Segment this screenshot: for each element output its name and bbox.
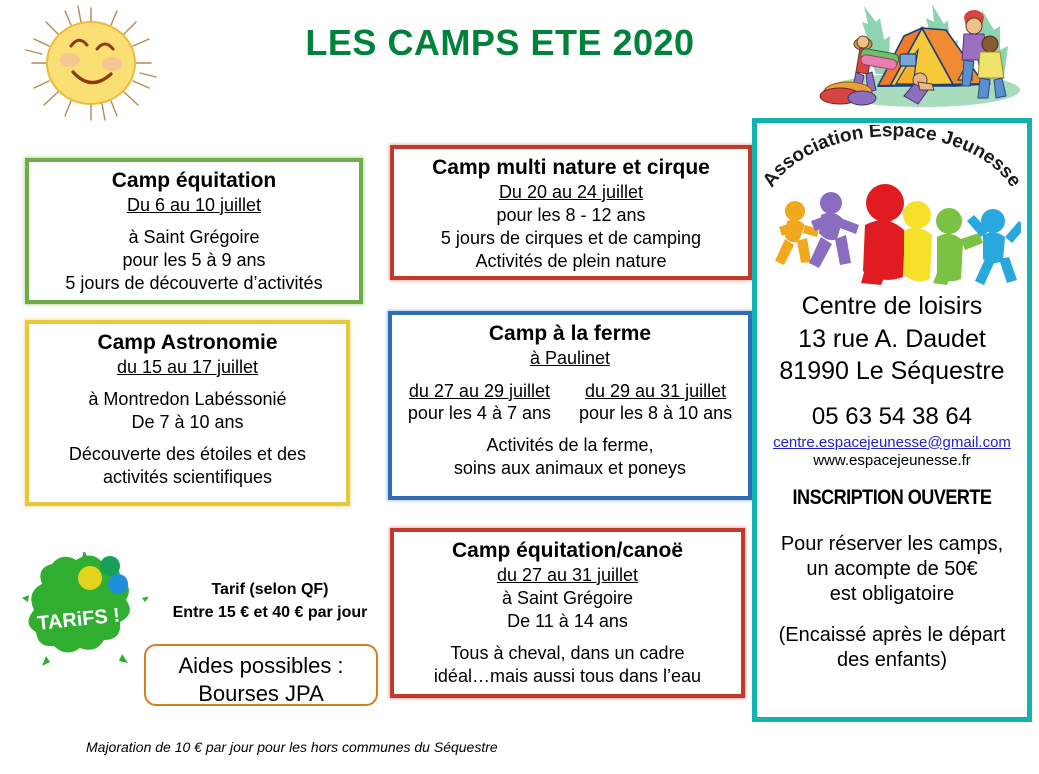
camp-description-line2: activités scientifiques — [37, 466, 338, 489]
running-children-logo — [765, 181, 1021, 285]
email-link[interactable]: centre.espacejeunesse@gmail.com — [757, 434, 1027, 451]
reservation-line-1: Pour réserver les camps, — [757, 532, 1027, 557]
farm-sessions: du 27 au 29 juillet pour les 4 à 7 ans d… — [400, 380, 740, 425]
camp-card-equitation-canoe: Camp équitation/canoë du 27 au 31 juille… — [390, 528, 745, 698]
camping-tent-illustration — [818, 0, 1030, 112]
address-line-1: Centre de loisirs — [757, 291, 1027, 322]
camp-ages: De 7 à 10 ans — [37, 411, 338, 434]
spacer — [400, 425, 740, 434]
association-info-panel: Association Espace Jeunesse — [752, 118, 1032, 722]
camp-dates: Du 20 au 24 juillet — [402, 181, 740, 204]
aides-box: Aides possibles : Bourses JPA — [144, 644, 378, 706]
camp-ages: pour les 8 - 12 ans — [402, 204, 740, 227]
session-dates: du 27 au 29 juillet — [408, 380, 551, 403]
page-title: LES CAMPS ETE 2020 — [180, 22, 820, 64]
smiling-sun-icon — [18, 2, 164, 124]
farm-session-left: du 27 au 29 juillet pour les 4 à 7 ans — [396, 380, 563, 425]
camp-card-astronomie: Camp Astronomie du 15 au 17 juillet à Mo… — [25, 320, 350, 506]
tarif-info: Tarif (selon QF) Entre 15 € et 40 € par … — [150, 578, 390, 624]
camp-description-line2: soins aux animaux et poneys — [400, 457, 740, 480]
camp-description-line1: Découverte des étoiles et des — [37, 443, 338, 466]
deposit-line-2: des enfants) — [757, 648, 1027, 673]
camp-description-line1: Tous à cheval, dans un cadre — [402, 642, 733, 665]
spacer — [402, 633, 733, 642]
farm-session-right: du 29 au 31 juillet pour les 8 à 10 ans — [567, 380, 744, 425]
camp-title: Camp multi nature et cirque — [402, 155, 740, 181]
tarif-line-1: Tarif (selon QF) — [150, 578, 390, 601]
session-ages: pour les 4 à 7 ans — [408, 402, 551, 425]
footer-note: Majoration de 10 € par jour pour les hor… — [86, 739, 498, 755]
session-ages: pour les 8 à 10 ans — [579, 402, 732, 425]
camp-location: à Saint Grégoire — [402, 587, 733, 610]
camp-dates: du 15 au 17 juillet — [37, 356, 338, 379]
address-line-3: 81990 Le Séquestre — [757, 356, 1027, 387]
deposit-note: (Encaissé après le départ des enfants) — [757, 623, 1027, 673]
tarifs-paint-splat-icon: TARiFS ! — [22, 552, 148, 672]
tarif-line-2: Entre 15 € et 40 € par jour — [150, 601, 390, 624]
camp-card-ferme: Camp à la ferme à Paulinet du 27 au 29 j… — [388, 311, 752, 500]
address-line-2: 13 rue A. Daudet — [757, 324, 1027, 355]
camp-location: à Paulinet — [400, 347, 740, 370]
camp-location: à Montredon Labéssonié — [37, 388, 338, 411]
phone-number[interactable]: 05 63 54 38 64 — [757, 403, 1027, 431]
camp-location: à Saint Grégoire — [37, 226, 351, 249]
camp-description-line2: Activités de plein nature — [402, 250, 740, 273]
spacer — [37, 217, 351, 226]
camp-ages: De 11 à 14 ans — [402, 610, 733, 633]
reservation-line-2: un acompte de 50€ — [757, 557, 1027, 582]
camp-description: 5 jours de découverte d’activités — [37, 272, 351, 295]
association-logo: Association Espace Jeunesse — [757, 123, 1027, 289]
poster-canvas: LES CAMPS ETE 2020 — [0, 0, 1039, 774]
camp-title: Camp Astronomie — [37, 330, 338, 356]
website-url[interactable]: www.espacejeunesse.fr — [757, 452, 1027, 469]
inscription-banner: INSCRIPTION OUVERTE — [776, 486, 1008, 510]
session-dates: du 29 au 31 juillet — [579, 380, 732, 403]
camp-title: Camp équitation — [37, 168, 351, 194]
reservation-line-3: est obligatoire — [757, 582, 1027, 607]
aides-line-2: Bourses JPA — [146, 680, 376, 708]
camp-description-line1: 5 jours de cirques et de camping — [402, 227, 740, 250]
camp-title: Camp à la ferme — [400, 321, 740, 347]
camp-dates: du 27 au 31 juillet — [402, 564, 733, 587]
camp-description-line1: Activités de la ferme, — [400, 434, 740, 457]
spacer — [37, 434, 338, 443]
camp-title: Camp équitation/canoë — [402, 538, 733, 564]
camp-card-multi-nature-cirque: Camp multi nature et cirque Du 20 au 24 … — [390, 145, 752, 280]
camp-card-equitation: Camp équitation Du 6 au 10 juillet à Sai… — [25, 158, 363, 304]
camp-description-line2: idéal…mais aussi tous dans l’eau — [402, 665, 733, 688]
aides-line-1: Aides possibles : — [146, 652, 376, 680]
camp-dates: Du 6 au 10 juillet — [37, 194, 351, 217]
reservation-note: Pour réserver les camps, un acompte de 5… — [757, 532, 1027, 608]
camp-ages: pour les 5 à 9 ans — [37, 249, 351, 272]
spacer — [37, 379, 338, 388]
deposit-line-1: (Encaissé après le départ — [757, 623, 1027, 648]
